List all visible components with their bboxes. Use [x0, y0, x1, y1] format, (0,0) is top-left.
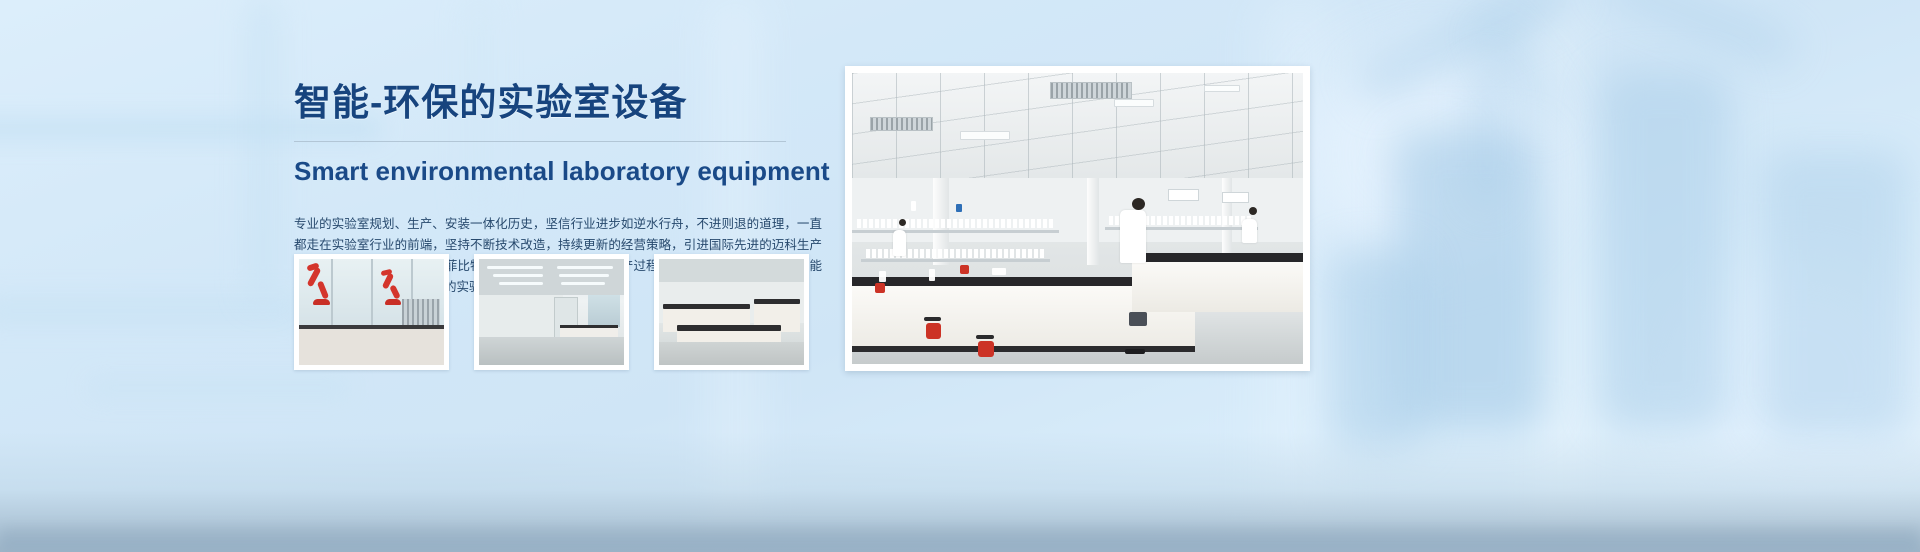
hero-banner: 智能-环保的实验室设备 Smart environmental laborato… [0, 0, 1920, 552]
thumbnail-image [659, 259, 804, 365]
thumbnail-gallery [294, 254, 809, 370]
microscope-silhouette [1330, 250, 1422, 450]
bg-shelf-shape [90, 380, 350, 396]
microscope-arm-silhouette [1601, 0, 1799, 70]
hero-image-frame[interactable] [845, 66, 1310, 371]
thumbnail-laboratory-benches[interactable] [654, 254, 809, 370]
bottom-gradient-edge [0, 526, 1920, 552]
page-title: 智能-环保的实验室设备 [294, 82, 828, 125]
microscope-stem-silhouette [1470, 60, 1504, 210]
hero-image [852, 73, 1303, 364]
thumbnail-clean-laboratory-corridor[interactable] [474, 254, 629, 370]
microscope-silhouette [1600, 70, 1730, 430]
title-divider [294, 141, 786, 142]
microscope-silhouette [1760, 150, 1910, 440]
thumbnail-image [299, 259, 444, 365]
thumbnail-robotic-arms-production-line[interactable] [294, 254, 449, 370]
page-subtitle: Smart environmental laboratory equipment [294, 156, 828, 187]
thumbnail-image [479, 259, 624, 365]
bg-shelf-shape [0, 300, 310, 322]
bg-column-shape [250, 0, 276, 300]
